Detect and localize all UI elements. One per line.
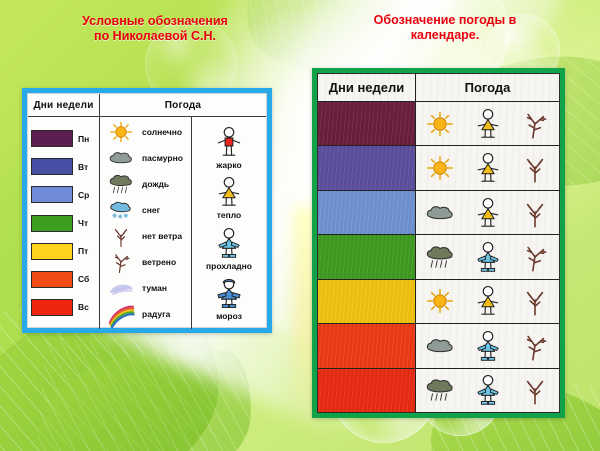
legend-weather-row: нет ветра	[104, 223, 189, 249]
calendar-table: Дни недели Погода	[317, 73, 560, 413]
calendar-day-color	[318, 324, 416, 367]
sun-icon	[416, 102, 464, 145]
left-title: Условные обозначения по Николаевой С.Н.	[30, 14, 280, 44]
calendar-weather-icons	[416, 324, 559, 367]
person-frost-icon	[214, 276, 244, 310]
right-title: Обозначение погоды в календаре.	[330, 13, 560, 43]
calendar-weather-icons	[416, 369, 559, 412]
calm-tree-icon	[511, 191, 559, 234]
sun-icon	[416, 280, 464, 323]
calendar-row	[318, 102, 559, 146]
day-label: Вс	[78, 302, 89, 312]
legend-day-row: Вс	[31, 299, 95, 316]
legend-day-row: Ср	[31, 186, 95, 203]
legend-day-row: Чт	[31, 215, 95, 232]
calendar-weather-icons	[416, 235, 559, 278]
legend-weather-column: солнечно пасмурно дождь снег	[100, 117, 266, 329]
calendar-row	[318, 324, 559, 368]
weather-label: туман	[142, 283, 167, 293]
calendar-day-color	[318, 146, 416, 189]
temperature-label: жарко	[216, 160, 241, 170]
fog-icon	[104, 276, 138, 300]
calendar-weather-icons	[416, 102, 559, 145]
person-cool-icon	[464, 235, 512, 278]
cloud-icon	[416, 324, 464, 367]
calm-tree-icon	[511, 369, 559, 412]
person-cool-icon	[464, 369, 512, 412]
calendar-row	[318, 235, 559, 279]
day-label: Ср	[78, 190, 89, 200]
legend-weather-row: снег	[104, 197, 189, 223]
calm-tree-icon	[104, 224, 138, 248]
person-hot-icon	[214, 125, 244, 159]
right-title-line1: Обозначение погоды в	[330, 13, 560, 28]
day-color-swatch	[31, 186, 73, 203]
calendar-day-color	[318, 191, 416, 234]
legend-temperature-row: прохладно	[206, 226, 252, 271]
legend-day-row: Пт	[31, 243, 95, 260]
day-color-swatch	[31, 215, 73, 232]
rain-cloud-icon	[416, 235, 464, 278]
rainbow-icon	[104, 302, 138, 326]
legend-temperature-row: жарко	[214, 125, 244, 170]
weather-label: радуга	[142, 309, 170, 319]
weather-label: нет ветра	[142, 231, 182, 241]
calendar-row	[318, 191, 559, 235]
legend-days-column: Пн Вт Ср Чт Пт Сб Вс	[28, 117, 100, 329]
weather-label: пасмурно	[142, 153, 183, 163]
legend-weather-list: солнечно пасмурно дождь снег	[100, 117, 192, 329]
windy-tree-icon	[511, 235, 559, 278]
sun-icon	[416, 146, 464, 189]
weather-label: дождь	[142, 179, 169, 189]
legend-temperature-row: мороз	[214, 276, 244, 321]
calendar-day-color	[318, 235, 416, 278]
windy-tree-icon	[511, 102, 559, 145]
cloud-icon	[104, 146, 138, 170]
person-cool-icon	[214, 226, 244, 260]
calendar-day-color	[318, 369, 416, 412]
day-color-swatch	[31, 271, 73, 288]
left-title-line2: по Николаевой С.Н.	[30, 29, 280, 44]
day-label: Чт	[78, 218, 88, 228]
right-title-line2: календаре.	[330, 28, 560, 43]
temperature-label: мороз	[216, 311, 242, 321]
weather-label: снег	[142, 205, 160, 215]
calendar-table-body	[318, 102, 559, 412]
person-warm-icon	[464, 191, 512, 234]
left-title-line1: Условные обозначения	[30, 14, 280, 29]
rain-cloud-icon	[416, 369, 464, 412]
legend-temperature-row: тепло	[214, 175, 244, 220]
calendar-weather-icons	[416, 280, 559, 323]
legend-header-weather: Погода	[100, 94, 266, 117]
legend-weather-row: пасмурно	[104, 145, 189, 171]
legend-day-row: Сб	[31, 271, 95, 288]
legend-temperature-list: жарко тепло прохладно	[192, 117, 266, 329]
day-label: Сб	[78, 274, 89, 284]
legend-card: Дни недели Погода Пн Вт Ср Чт Пт Сб Вс с…	[22, 88, 272, 333]
day-color-swatch	[31, 158, 73, 175]
calendar-table-header: Дни недели Погода	[318, 74, 559, 102]
temperature-label: прохладно	[206, 261, 252, 271]
rain-cloud-icon	[104, 172, 138, 196]
day-color-swatch	[31, 299, 73, 316]
legend-table-body: Пн Вт Ср Чт Пт Сб Вс солнечно пасмурно	[28, 117, 266, 329]
day-label: Пт	[78, 246, 88, 256]
legend-header-days: Дни недели	[28, 94, 100, 117]
windy-tree-icon	[511, 324, 559, 367]
calendar-row	[318, 146, 559, 190]
snow-cloud-icon	[104, 198, 138, 222]
legend-weather-row: солнечно	[104, 119, 189, 145]
calendar-weather-icons	[416, 146, 559, 189]
calendar-day-color	[318, 280, 416, 323]
legend-weather-row: туман	[104, 275, 189, 301]
day-color-swatch	[31, 130, 73, 147]
person-warm-icon	[214, 175, 244, 209]
sun-icon	[104, 120, 138, 144]
windy-tree-icon	[104, 250, 138, 274]
calendar-header-weather: Погода	[416, 74, 559, 101]
calendar-header-days: Дни недели	[318, 74, 416, 101]
calendar-row	[318, 369, 559, 412]
weather-label: солнечно	[142, 127, 182, 137]
calendar-card: Дни недели Погода	[312, 68, 565, 418]
person-warm-icon	[464, 102, 512, 145]
calendar-weather-icons	[416, 191, 559, 234]
cloud-icon	[416, 191, 464, 234]
legend-table: Дни недели Погода Пн Вт Ср Чт Пт Сб Вс с…	[27, 93, 267, 328]
day-label: Пн	[78, 134, 89, 144]
person-cool-icon	[464, 324, 512, 367]
weather-label: ветрено	[142, 257, 176, 267]
day-color-swatch	[31, 243, 73, 260]
legend-weather-row: дождь	[104, 171, 189, 197]
legend-weather-row: ветрено	[104, 249, 189, 275]
legend-table-header: Дни недели Погода	[28, 94, 266, 117]
calendar-day-color	[318, 102, 416, 145]
person-warm-icon	[464, 280, 512, 323]
person-warm-icon	[464, 146, 512, 189]
temperature-label: тепло	[217, 210, 242, 220]
day-label: Вт	[78, 162, 88, 172]
legend-day-row: Пн	[31, 130, 95, 147]
legend-weather-row: радуга	[104, 301, 189, 327]
calm-tree-icon	[511, 280, 559, 323]
calendar-row	[318, 280, 559, 324]
calm-tree-icon	[511, 146, 559, 189]
legend-day-row: Вт	[31, 158, 95, 175]
